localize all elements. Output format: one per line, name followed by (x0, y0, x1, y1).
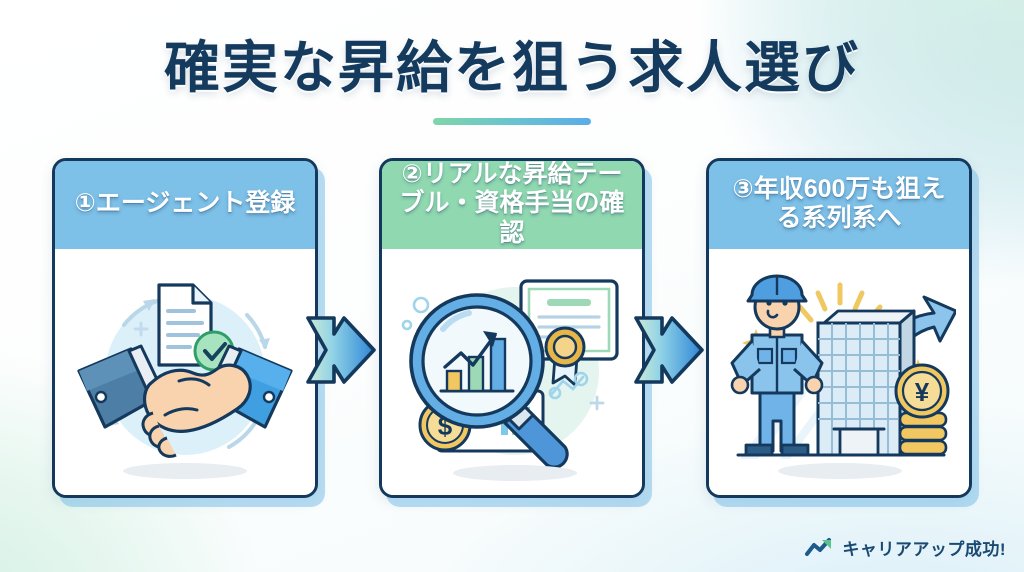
step-card-3[interactable]: ③年収600万も狙える系列系へ (706, 158, 972, 498)
svg-text:¥: ¥ (915, 377, 930, 407)
infographic-canvas: 確実な昇給を狙う求人選び ①エージェント登録 (0, 0, 1024, 572)
step-card-3-header: ③年収600万も狙える系列系へ (709, 161, 969, 249)
title-block: 確実な昇給を狙う求人選び (0, 38, 1024, 98)
page-title: 確実な昇給を狙う求人選び (0, 38, 1024, 98)
trend-up-arrow-icon (804, 537, 834, 559)
step-card-1[interactable]: ①エージェント登録 (52, 158, 318, 498)
step-card-2-title: ②リアルな昇給テーブル・資格手当の確認 (394, 160, 630, 249)
connector-1-right-arrow-icon (304, 296, 382, 404)
worker-building-yen-coins-icon: ¥ (722, 263, 956, 485)
footer-logo: キャリアアップ成功! (804, 535, 1006, 560)
step-card-1-title: ①エージェント登録 (75, 189, 296, 219)
footer-logo-text: キャリアアップ成功! (842, 535, 1006, 560)
step-card-3-body: ¥ (709, 249, 969, 498)
step-card-1-header: ①エージェント登録 (55, 161, 315, 249)
step-card-1-body (55, 249, 315, 498)
step-card-2-header: ②リアルな昇給テーブル・資格手当の確認 (382, 161, 642, 249)
magnifier-growth-chart-certificate-coin-icon: $ (395, 263, 629, 485)
step-card-2[interactable]: ②リアルな昇給テーブル・資格手当の確認 (379, 158, 645, 498)
connector-2-right-arrow-icon (632, 296, 710, 404)
step-card-3-title: ③年収600万も狙える系列系へ (721, 175, 957, 234)
step-card-2-body: $ (382, 249, 642, 498)
handshake-document-check-icon (69, 263, 301, 485)
title-underline-accent (433, 118, 591, 125)
